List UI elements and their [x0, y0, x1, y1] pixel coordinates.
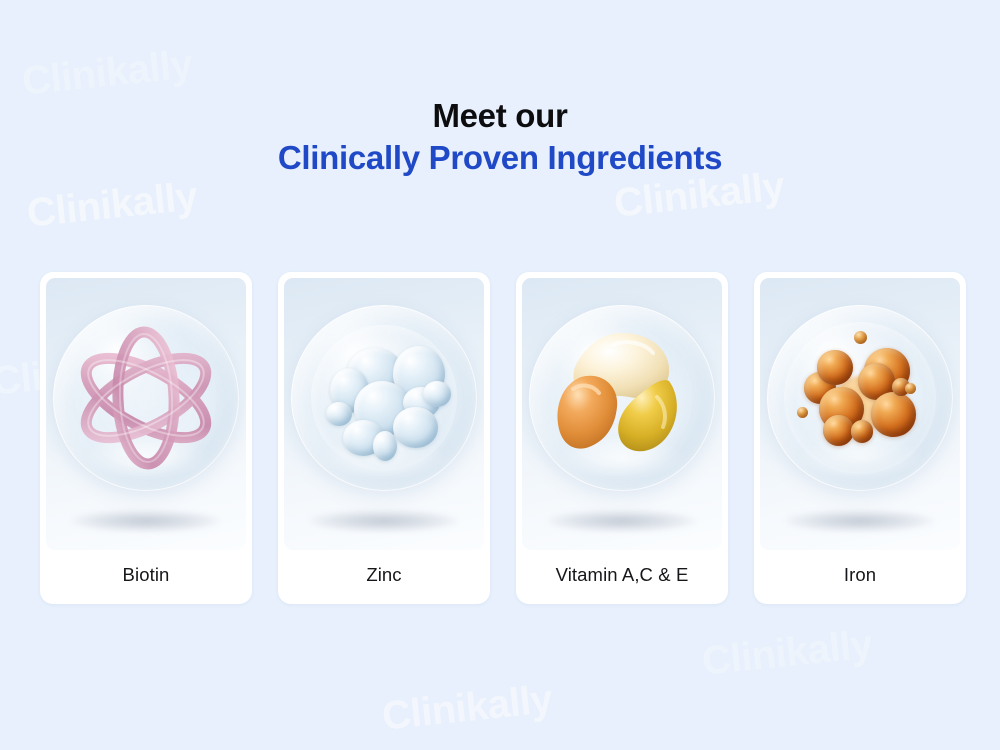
amber-droplet-cluster-icon: [767, 305, 953, 491]
sphere-shadow: [309, 510, 459, 532]
pink-atom-orbital-icon: [53, 305, 239, 491]
zinc-sphere: [291, 305, 477, 491]
ingredient-label: Vitamin A,C & E: [522, 550, 722, 604]
ingredient-card-zinc[interactable]: Zinc: [278, 272, 490, 604]
ingredient-label: Biotin: [46, 550, 246, 604]
ingredient-image-panel: [522, 278, 722, 550]
ingredient-card-row: Biotin: [40, 272, 968, 604]
vitamin-sphere: [529, 305, 715, 491]
golden-oil-droplets-icon: [529, 305, 715, 491]
ingredient-image-panel: [46, 278, 246, 550]
sphere-shadow: [547, 510, 697, 532]
sphere-shadow: [71, 510, 221, 532]
biotin-sphere: [53, 305, 239, 491]
ingredient-image-panel: [760, 278, 960, 550]
ingredient-card-vitamin[interactable]: Vitamin A,C & E: [516, 272, 728, 604]
ingredient-card-biotin[interactable]: Biotin: [40, 272, 252, 604]
watermark-text: Clinikally: [25, 174, 199, 237]
page-title-line2: Clinically Proven Ingredients: [0, 136, 1000, 180]
iron-sphere: [767, 305, 953, 491]
watermark-text: Clinikally: [380, 677, 554, 740]
page-title-line1: Meet our: [0, 96, 1000, 136]
sphere-shadow: [785, 510, 935, 532]
watermark-text: Clinikally: [700, 622, 874, 685]
ingredient-label: Iron: [760, 550, 960, 604]
ingredient-label: Zinc: [284, 550, 484, 604]
ingredient-card-iron[interactable]: Iron: [754, 272, 966, 604]
page-title: Meet our Clinically Proven Ingredients: [0, 0, 1000, 180]
silver-bubble-cluster-icon: [291, 305, 477, 491]
ingredient-image-panel: [284, 278, 484, 550]
